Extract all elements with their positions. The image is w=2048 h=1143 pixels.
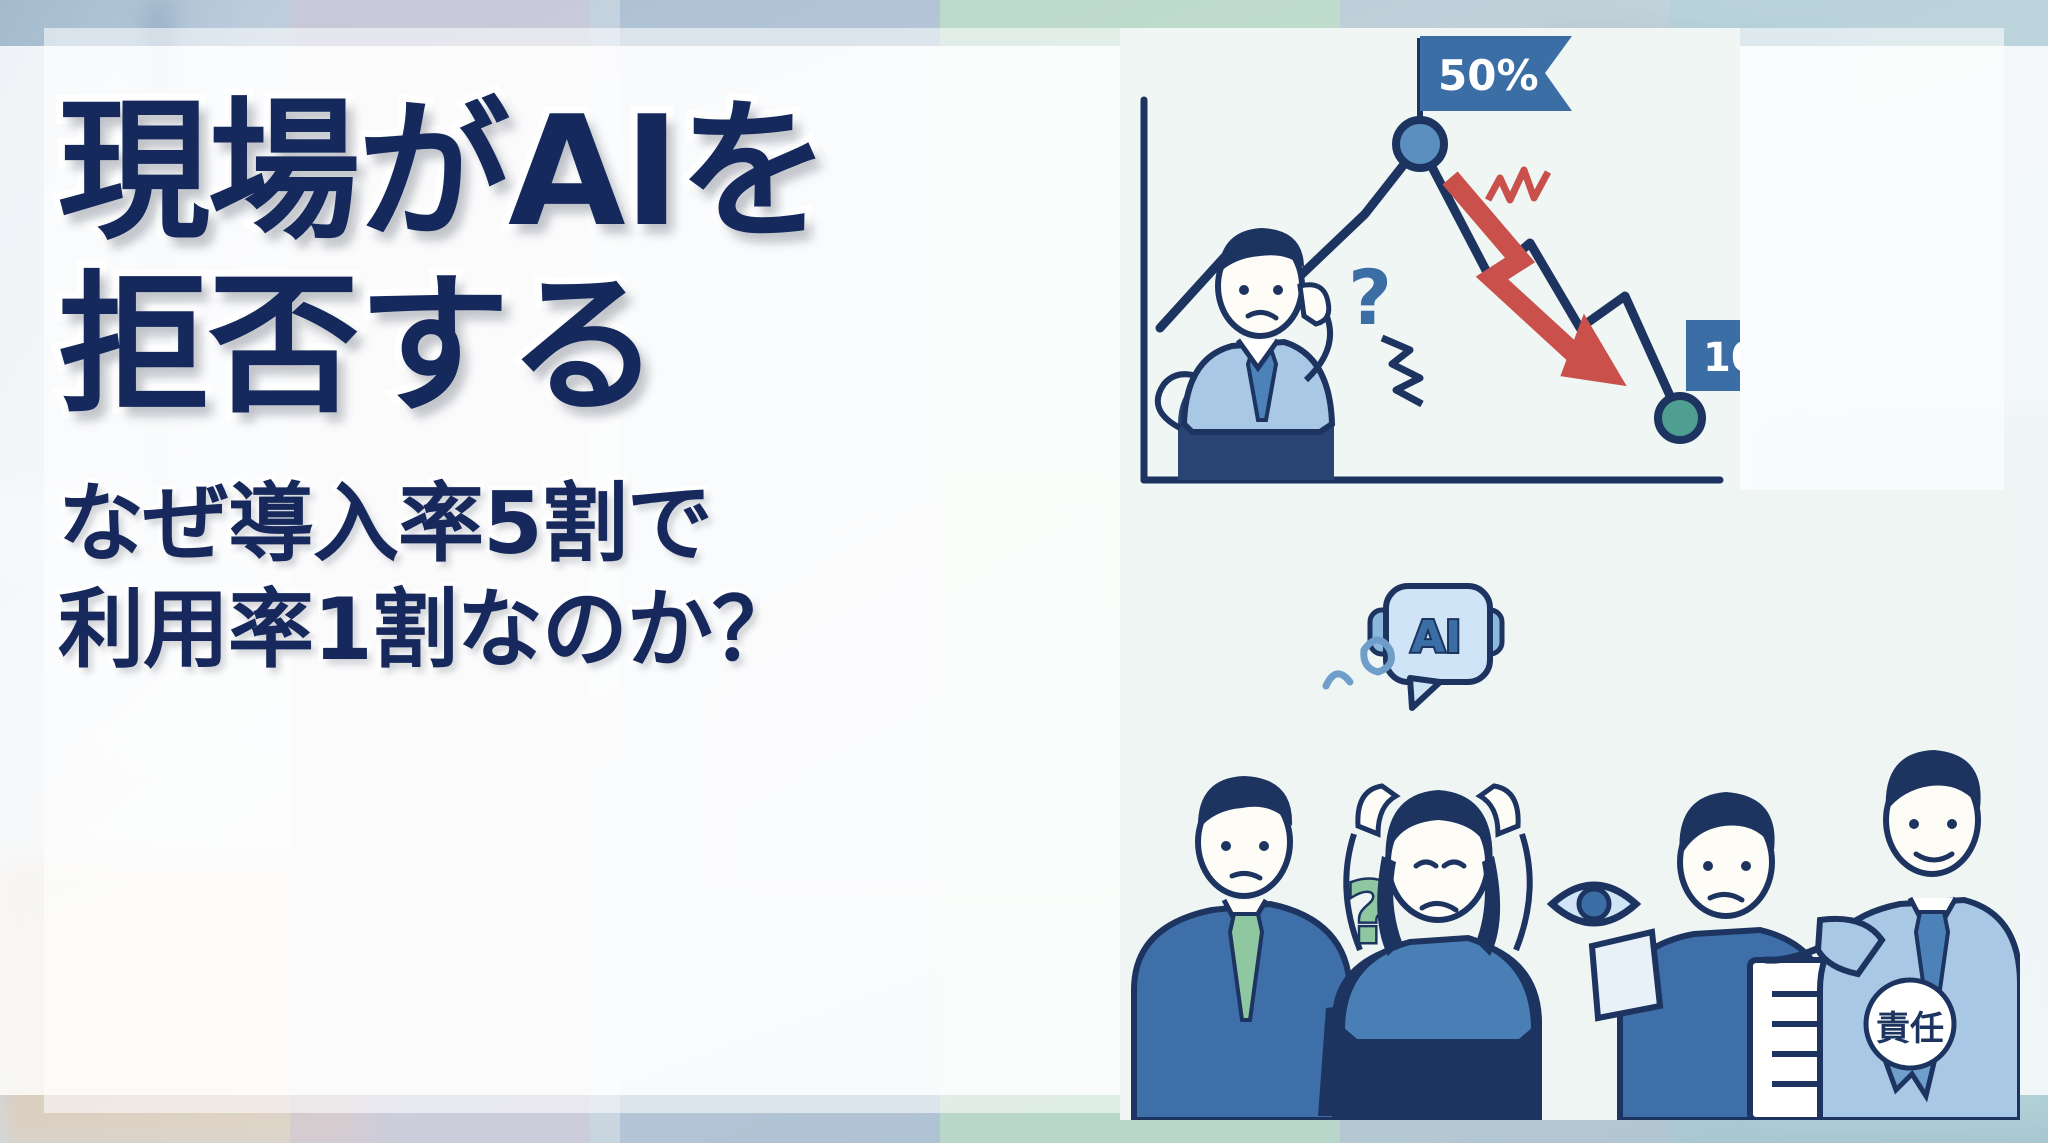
subheadline-line-1: なぜ導入率5割で bbox=[58, 476, 958, 572]
peak-data-point bbox=[1396, 120, 1444, 168]
eye-icon bbox=[1552, 885, 1636, 923]
headline-line-2: 拒否する bbox=[58, 270, 958, 422]
people-illustration: AI ? bbox=[1120, 490, 2020, 1120]
chart-illustration: 50% 10% bbox=[1120, 28, 1740, 528]
usage-rate-flag-label: 10% bbox=[1703, 335, 1740, 381]
subheadline-block: なぜ導入率5割で 利用率1割なのか？ bbox=[58, 476, 958, 679]
headline-line-1: 現場がAIを bbox=[58, 96, 958, 248]
usage-rate-flag: 10% bbox=[1686, 320, 1740, 391]
headline-block: 現場がAIを 拒否する なぜ導入率5割で 利用率1割なのか？ bbox=[58, 96, 958, 679]
thumbnail-canvas: 現場がAIを 拒否する なぜ導入率5割で 利用率1割なのか？ 50% bbox=[0, 0, 2048, 1143]
ai-bubble-label: AI bbox=[1411, 612, 1461, 663]
responsibility-badge-label: 責任 bbox=[1876, 1009, 1944, 1049]
question-mark-icon: ? bbox=[1348, 253, 1392, 342]
end-data-point bbox=[1658, 396, 1702, 440]
illustration-panel: 50% 10% bbox=[1120, 20, 2020, 1120]
subheadline-line-2: 利用率1割なのか？ bbox=[58, 582, 958, 678]
adoption-rate-flag-label: 50% bbox=[1438, 51, 1539, 100]
